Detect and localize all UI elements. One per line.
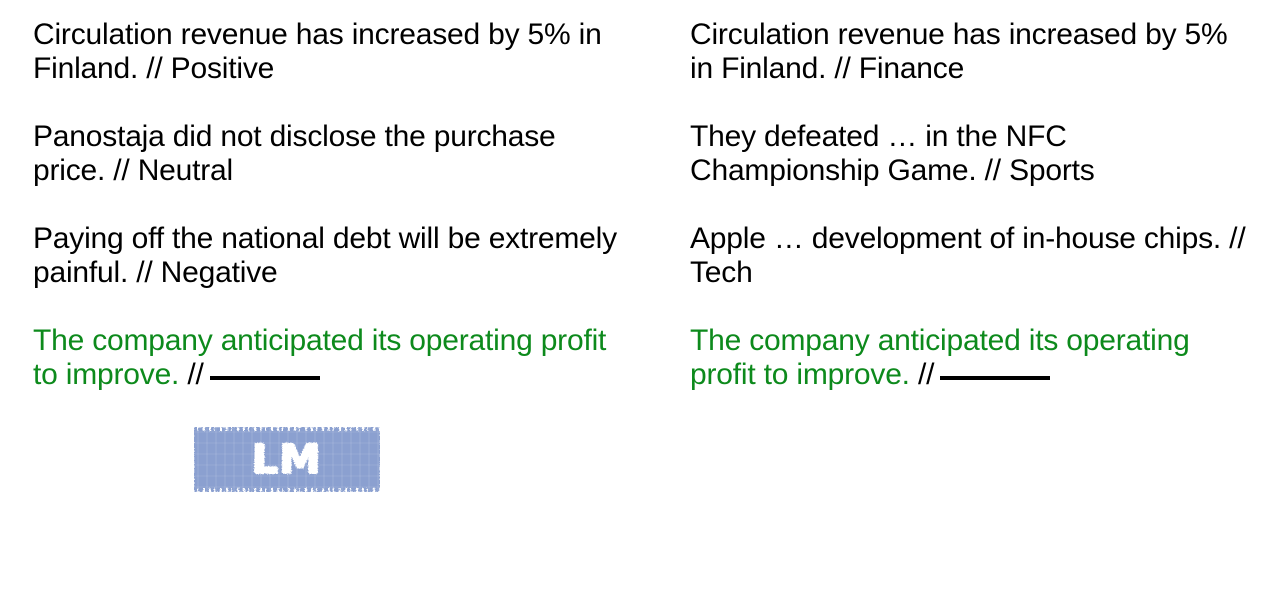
answer-blank <box>210 376 320 380</box>
query-separator: // <box>918 358 934 391</box>
answer-blank <box>940 376 1050 380</box>
query-tail: // <box>179 358 319 391</box>
query-tail: // <box>910 358 1050 391</box>
query-example: The company anticipated its operating pr… <box>33 324 633 392</box>
example-list-left: Circulation revenue has increased by 5% … <box>33 18 633 392</box>
lm-box-label: LM <box>252 440 323 480</box>
prompt-column-topic: Circulation revenue has increased by 5% … <box>690 0 1250 592</box>
query-example: The company anticipated its operating pr… <box>690 324 1250 392</box>
demonstration-example: Paying off the national debt will be ext… <box>33 222 633 290</box>
demonstration-example: Circulation revenue has increased by 5% … <box>33 18 633 86</box>
demonstration-example: Panostaja did not disclose the purchase … <box>33 120 633 188</box>
demonstration-example: They defeated … in the NFC Championship … <box>690 120 1250 188</box>
example-list-right: Circulation revenue has increased by 5% … <box>690 18 1250 392</box>
query-separator: // <box>187 358 203 391</box>
prompt-column-sentiment: Circulation revenue has increased by 5% … <box>33 0 633 592</box>
lm-box: LM <box>194 427 380 492</box>
figure-canvas: Circulation revenue has increased by 5% … <box>0 0 1282 592</box>
demonstration-example: Circulation revenue has increased by 5% … <box>690 18 1250 86</box>
demonstration-example: Apple … development of in-house chips. /… <box>690 222 1250 290</box>
